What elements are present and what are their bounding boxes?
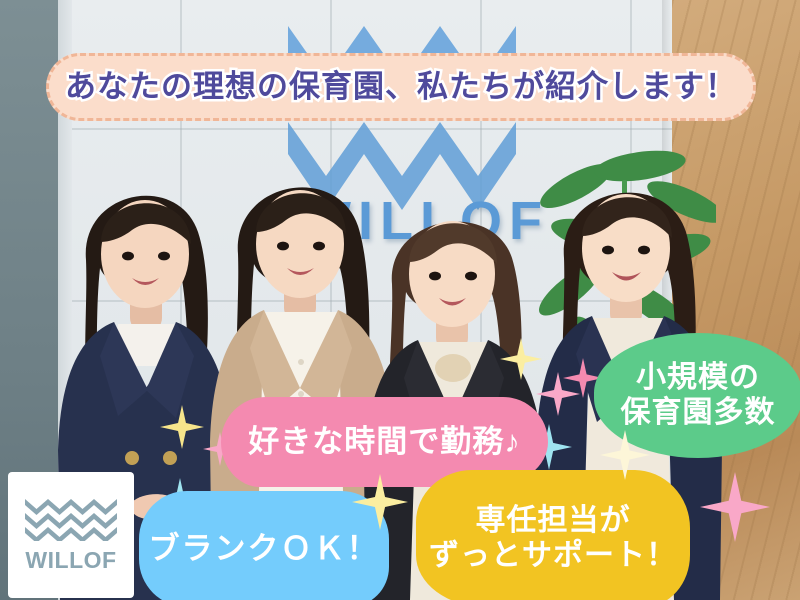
bubble-green-line-2: 保育園多数 <box>621 396 776 431</box>
banner-canvas: WILLOF <box>0 0 800 600</box>
headline-text: あなたの理想の保育園、私たちが紹介します！ <box>65 69 737 105</box>
willof-zigzag-icon <box>25 497 117 541</box>
willof-wordmark: WILLOF <box>25 547 116 574</box>
bubble-blank-ok: ブランクＯＫ！ <box>139 491 389 600</box>
bubble-yellow-line-1: 専任担当が <box>429 504 677 539</box>
bubble-green-line-1: 小規模の <box>621 361 776 396</box>
bubble-blue-line-1: ブランクＯＫ！ <box>149 531 380 567</box>
bubble-dedicated-support: 専任担当が ずっとサポート！ <box>416 470 690 600</box>
willof-logo-card: WILLOF <box>8 472 134 598</box>
headline-banner: あなたの理想の保育園、私たちが紹介します！ <box>46 53 756 121</box>
bubble-pink-line-1: 好きな時間で勤務♪ <box>248 424 521 460</box>
bubble-yellow-line-2: ずっとサポート！ <box>429 539 677 574</box>
